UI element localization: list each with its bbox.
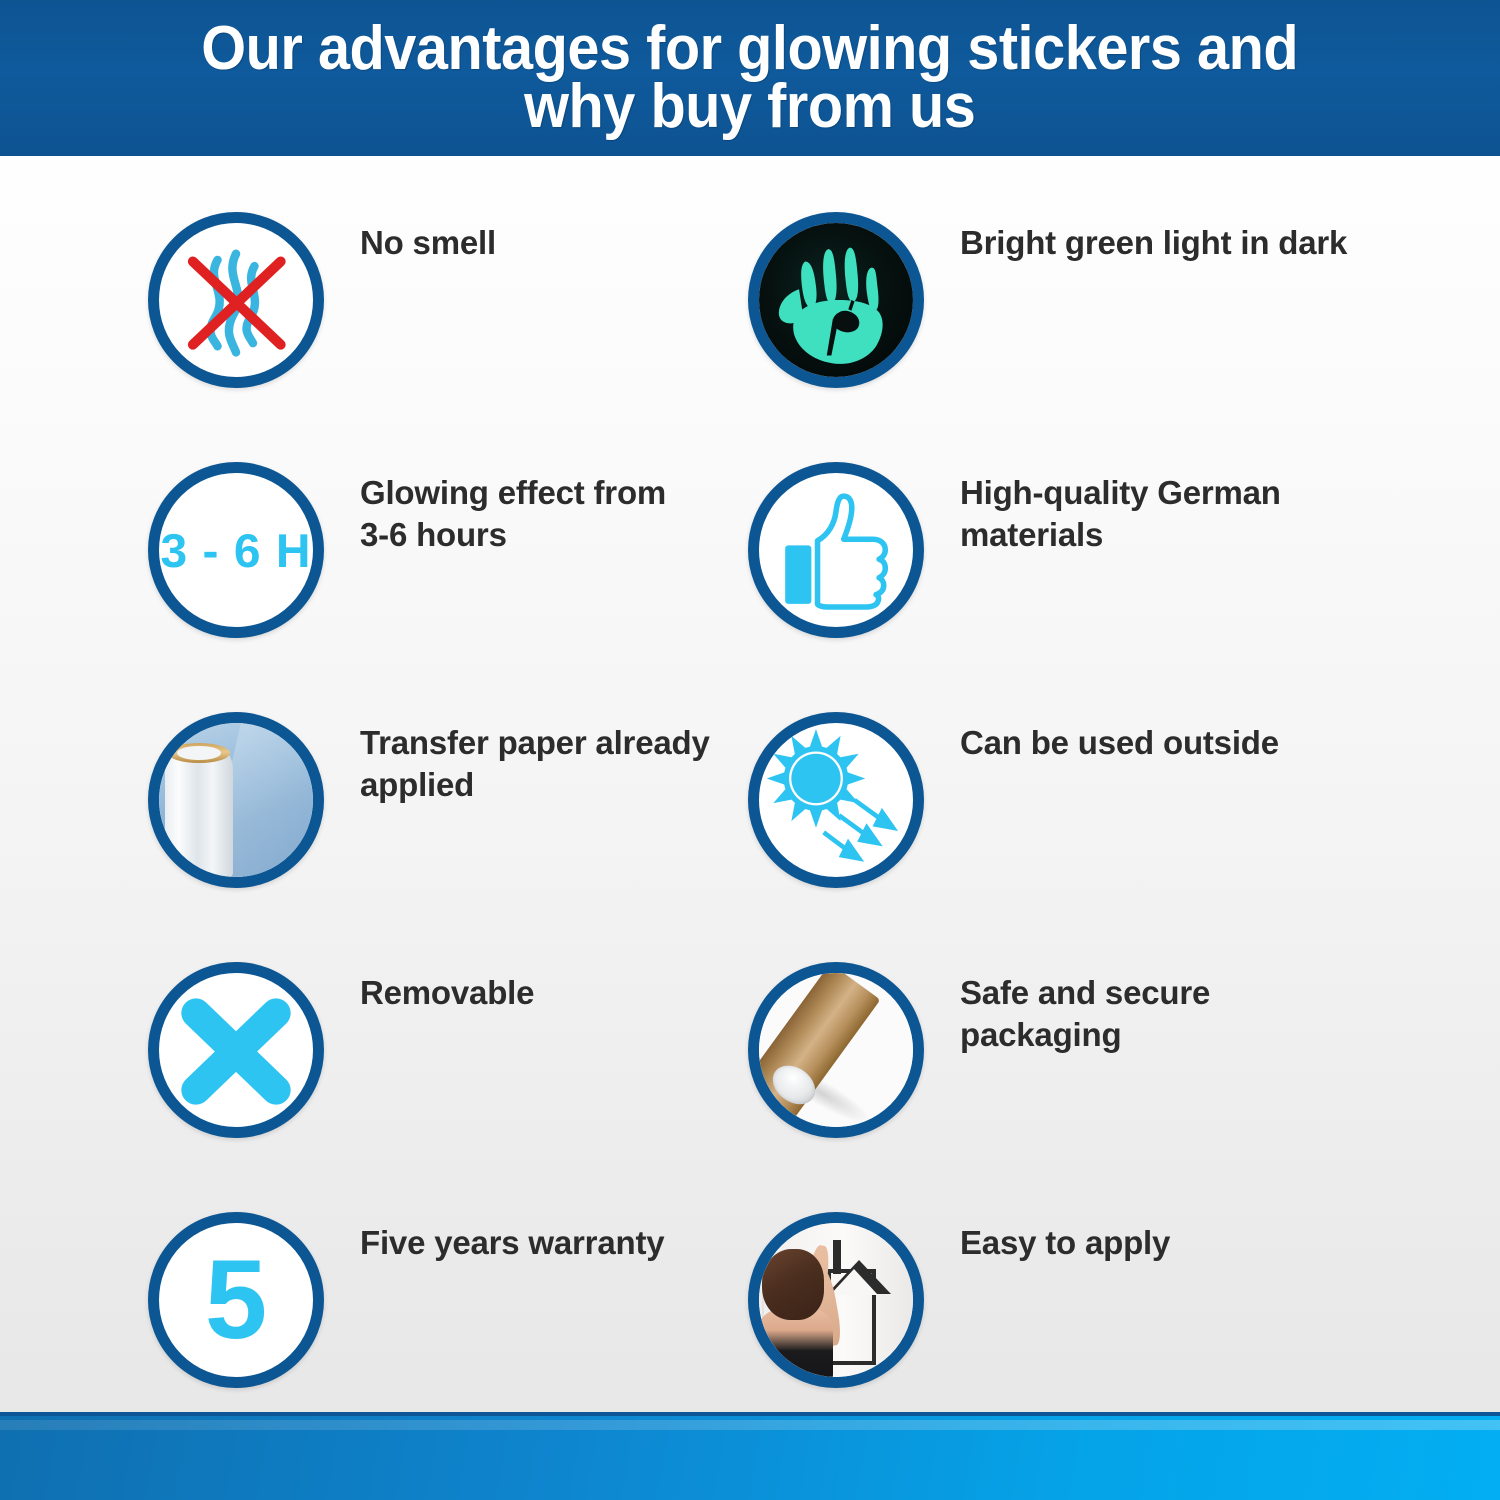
features-grid: No smell [0, 156, 1500, 1406]
woman-applying-decal-photo [759, 1223, 913, 1377]
feature-label: Can be used outside [924, 698, 1368, 764]
footer-bar [0, 1412, 1500, 1500]
outside-use-badge [748, 712, 924, 888]
no-smell-badge [148, 212, 324, 388]
thumbs-up-icon [759, 473, 913, 627]
feature-easy-apply: Easy to apply [748, 1198, 1368, 1448]
feature-label: Removable [324, 948, 768, 1014]
page-title: Our advantages for glowing stickers and … [202, 20, 1299, 135]
sun-rays-icon [759, 723, 913, 877]
feature-removable: Removable [148, 948, 768, 1198]
packaging-badge [748, 962, 924, 1138]
removable-badge [148, 962, 324, 1138]
feature-label: Five years warranty [324, 1198, 768, 1264]
feature-label: Glowing effect from 3-6 hours [324, 448, 768, 555]
badge-text-five: 5 [205, 1244, 267, 1356]
feature-label: Transfer paper already applied [324, 698, 768, 805]
feature-transfer-paper: Transfer paper already applied [148, 698, 768, 948]
footer-sheen [0, 1420, 1500, 1430]
sun-rays-art [759, 723, 913, 877]
feature-german-materials: High-quality German materials [748, 448, 1368, 698]
no-smell-icon [159, 223, 313, 377]
no-smell-icon-art [159, 223, 313, 377]
feature-warranty: 5 Five years warranty [148, 1198, 768, 1448]
easy-apply-badge [748, 1212, 924, 1388]
header-banner: Our advantages for glowing stickers and … [0, 0, 1500, 156]
cross-x-icon [159, 973, 313, 1127]
woman-hair [762, 1249, 824, 1320]
bright-green-badge [748, 212, 924, 388]
feature-label: Bright green light in dark [924, 198, 1368, 264]
german-materials-badge [748, 462, 924, 638]
transfer-paper-badge [148, 712, 324, 888]
badge-text-hours: 3 - 6 H [160, 527, 311, 574]
feature-label: Easy to apply [924, 1198, 1368, 1264]
five-numeral-icon: 5 [159, 1223, 313, 1377]
transfer-paper-roll-icon [159, 723, 313, 877]
feature-no-smell: No smell [148, 198, 768, 448]
roll-core-inner [177, 746, 220, 760]
decal-tab [833, 1240, 841, 1274]
woman-applying-decal-icon [759, 1223, 913, 1377]
mailing-tube-icon [759, 973, 913, 1127]
feature-packaging: Safe and secure packaging [748, 948, 1368, 1198]
feature-glow-duration: 3 - 6 H Glowing effect from 3-6 hours [148, 448, 768, 698]
feature-outside-use: Can be used outside [748, 698, 1368, 948]
glow-duration-badge: 3 - 6 H [148, 462, 324, 638]
infographic-page: Our advantages for glowing stickers and … [0, 0, 1500, 1500]
transfer-paper-photo [159, 723, 313, 877]
feature-label: Safe and secure packaging [924, 948, 1368, 1055]
feature-label: High-quality German materials [924, 448, 1368, 555]
cross-x-art [159, 973, 313, 1127]
glowing-handprint-icon [759, 223, 913, 377]
three-six-hours-icon: 3 - 6 H [159, 473, 313, 627]
feature-label: No smell [324, 198, 768, 264]
warranty-badge: 5 [148, 1212, 324, 1388]
handprint-art [759, 223, 913, 377]
feature-bright-green: Bright green light in dark [748, 198, 1368, 448]
mailing-tube-photo [759, 973, 913, 1127]
film-roll [165, 748, 233, 877]
thumbs-up-art [759, 473, 913, 627]
